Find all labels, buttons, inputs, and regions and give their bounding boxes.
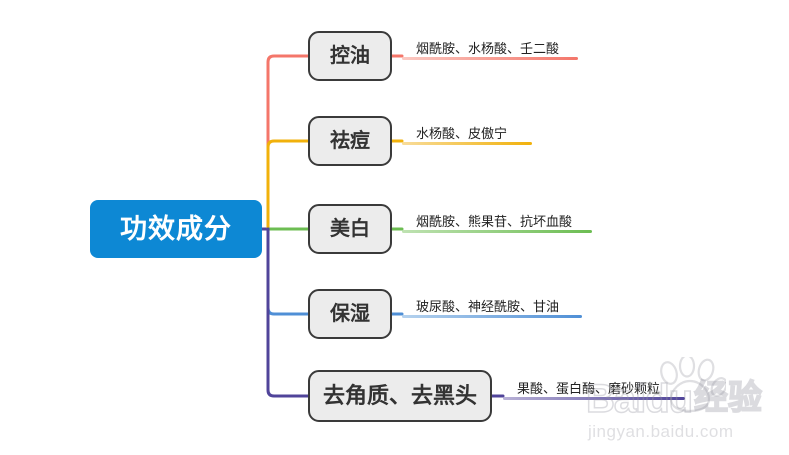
leaf-text-4: 果酸、蛋白酶、磨砂颗粒 <box>517 382 660 395</box>
leaf-4: 果酸、蛋白酶、磨砂颗粒 <box>503 370 685 400</box>
branch-node-label-4: 去角质、去黑头 <box>323 385 477 407</box>
leaf-rule-3 <box>402 315 582 318</box>
branch-node-4[interactable]: 去角质、去黑头 <box>308 370 492 422</box>
leaf-text-3: 玻尿酸、神经酰胺、甘油 <box>416 300 559 313</box>
root-node-label: 功效成分 <box>120 216 232 243</box>
branch-node-1[interactable]: 祛痘 <box>308 116 392 166</box>
mindmap-canvas: 功效成分 控油 烟酰胺、水杨酸、壬二酸 祛痘 水杨酸、皮傲宁 美白 烟酰胺、熊果… <box>0 0 789 455</box>
branch-node-label-0: 控油 <box>330 46 370 66</box>
leaf-rule-4 <box>503 397 685 400</box>
branch-node-label-1: 祛痘 <box>330 131 370 151</box>
branch-node-label-3: 保湿 <box>330 304 370 324</box>
leaf-rule-2 <box>402 230 592 233</box>
leaf-rule-1 <box>402 142 532 145</box>
leaf-rule-0 <box>402 57 578 60</box>
leaf-text-0: 烟酰胺、水杨酸、壬二酸 <box>416 42 559 55</box>
leaf-text-2: 烟酰胺、熊果苷、抗坏血酸 <box>416 215 572 228</box>
branch-node-label-2: 美白 <box>330 219 370 239</box>
leaf-1: 水杨酸、皮傲宁 <box>402 115 532 145</box>
leaf-0: 烟酰胺、水杨酸、壬二酸 <box>402 30 578 60</box>
leaf-2: 烟酰胺、熊果苷、抗坏血酸 <box>402 203 592 233</box>
leaf-3: 玻尿酸、神经酰胺、甘油 <box>402 288 582 318</box>
root-node[interactable]: 功效成分 <box>90 200 262 258</box>
leaf-text-1: 水杨酸、皮傲宁 <box>416 127 507 140</box>
branch-node-3[interactable]: 保湿 <box>308 289 392 339</box>
branch-node-0[interactable]: 控油 <box>308 31 392 81</box>
branch-node-2[interactable]: 美白 <box>308 204 392 254</box>
